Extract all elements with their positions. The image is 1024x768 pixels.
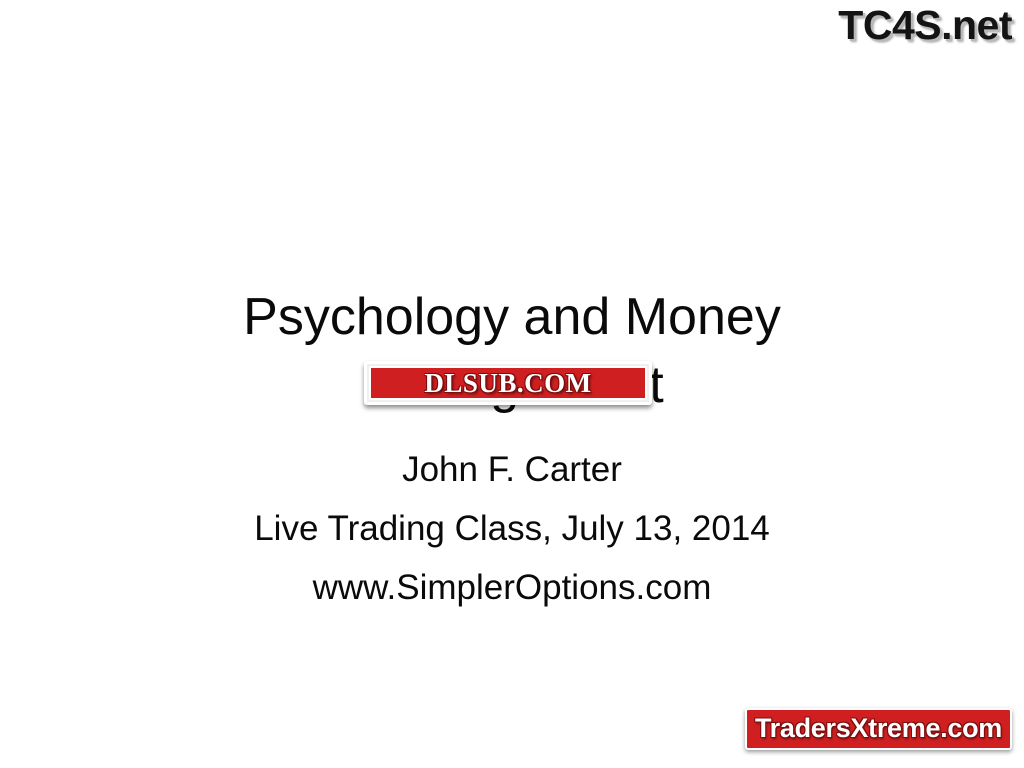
subtitle-line-author: John F. Carter bbox=[90, 441, 934, 500]
dlsub-watermark-label: DLSUB.COM bbox=[424, 368, 591, 399]
subtitle-line-class: Live Trading Class, July 13, 2014 bbox=[90, 500, 934, 559]
slide-subtitle: John F. Carter Live Trading Class, July … bbox=[0, 441, 1024, 617]
tc4s-watermark: TC4S.net bbox=[838, 2, 1012, 49]
subtitle-line-website: www.SimplerOptions.com bbox=[90, 559, 934, 618]
tradersxtreme-watermark-label: TradersXtreme.com bbox=[755, 713, 1002, 743]
tradersxtreme-watermark: TradersXtreme.com bbox=[745, 708, 1012, 750]
dlsub-watermark: DLSUB.COM bbox=[364, 361, 652, 405]
dlsub-watermark-inner: DLSUB.COM bbox=[369, 366, 647, 400]
presentation-slide: TC4S.net Psychology and Money Management… bbox=[0, 0, 1024, 768]
